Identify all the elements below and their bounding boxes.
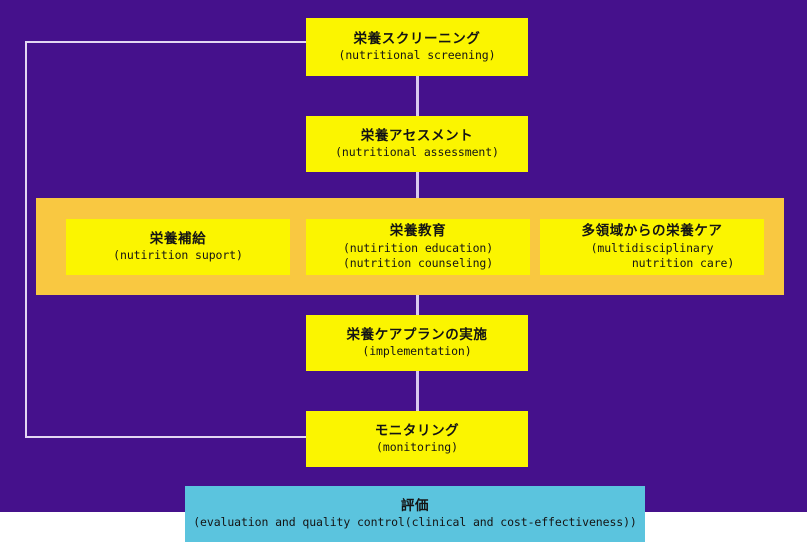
node-title-en-secondary: nutrition care)	[570, 256, 734, 271]
node-title-jp: モニタリング	[375, 423, 460, 441]
node-title-en: (nutritional assessment)	[335, 145, 499, 160]
node-title-jp: 栄養スクリーニング	[354, 31, 481, 49]
feedback-loop-top-segment	[25, 41, 309, 43]
connector-implementation-to-monitoring	[416, 371, 419, 411]
node-title-en-secondary: (nutrition counseling)	[343, 256, 493, 271]
node-title-jp: 栄養ケアプランの実施	[347, 327, 488, 345]
diagram-canvas: 栄養スクリーニング (nutritional screening) 栄養アセスメ…	[0, 0, 807, 542]
node-title-en: (nutritional screening)	[339, 48, 496, 63]
node-nutritional-assessment[interactable]: 栄養アセスメント (nutritional assessment)	[306, 116, 528, 172]
node-monitoring[interactable]: モニタリング (monitoring)	[306, 411, 528, 467]
node-title-en: (multidisciplinary	[591, 241, 714, 256]
node-evaluation[interactable]: 評価 (evaluation and quality control(clini…	[185, 486, 645, 542]
node-title-jp: 栄養補給	[150, 231, 206, 249]
node-multidisciplinary-nutrition-care[interactable]: 多領域からの栄養ケア (multidisciplinary nutrition …	[540, 219, 764, 275]
node-title-en: (nutirition education)	[343, 241, 493, 256]
node-title-en: (evaluation and quality control(clinical…	[193, 515, 637, 530]
feedback-loop-left-segment	[25, 41, 27, 438]
connector-band-to-implementation	[416, 295, 419, 317]
node-nutritional-screening[interactable]: 栄養スクリーニング (nutritional screening)	[306, 18, 528, 76]
connector-assessment-to-band	[416, 172, 419, 200]
node-title-en: (implementation)	[362, 344, 471, 359]
connector-screening-to-assessment	[416, 76, 419, 116]
node-nutrition-support[interactable]: 栄養補給 (nutirition suport)	[66, 219, 290, 275]
node-title-jp: 栄養教育	[390, 223, 446, 241]
node-nutrition-education[interactable]: 栄養教育 (nutirition education) (nutrition c…	[306, 219, 530, 275]
node-implementation[interactable]: 栄養ケアプランの実施 (implementation)	[306, 315, 528, 371]
node-title-en: (monitoring)	[376, 440, 458, 455]
node-title-en: (nutirition suport)	[113, 248, 243, 263]
node-title-jp: 多領域からの栄養ケア	[582, 223, 723, 241]
node-title-jp: 評価	[401, 498, 429, 516]
feedback-loop-bottom-segment	[25, 436, 309, 438]
node-title-jp: 栄養アセスメント	[361, 128, 474, 146]
